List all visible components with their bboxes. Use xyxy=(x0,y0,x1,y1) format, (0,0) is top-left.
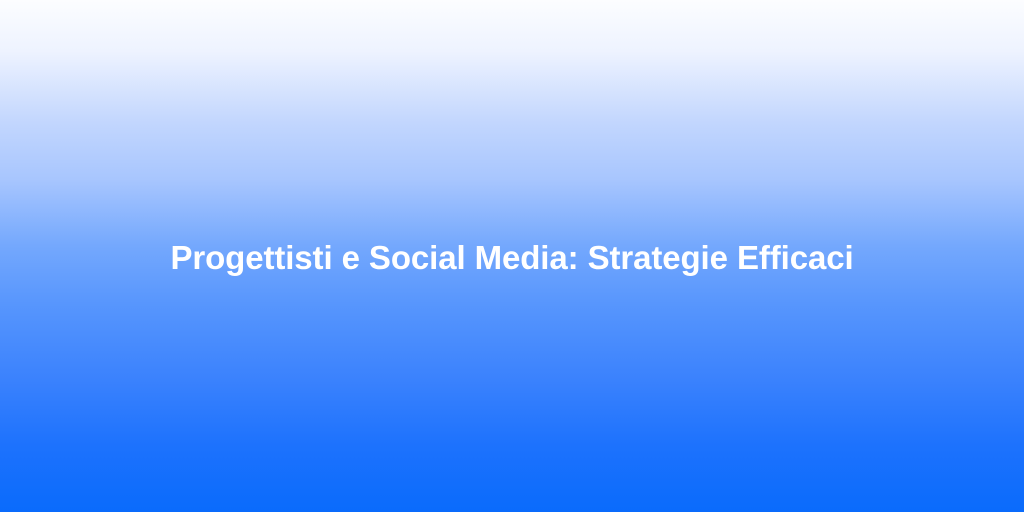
page-title: Progettisti e Social Media: Strategie Ef… xyxy=(110,237,913,278)
title-banner: Progettisti e Social Media: Strategie Ef… xyxy=(0,0,1024,512)
